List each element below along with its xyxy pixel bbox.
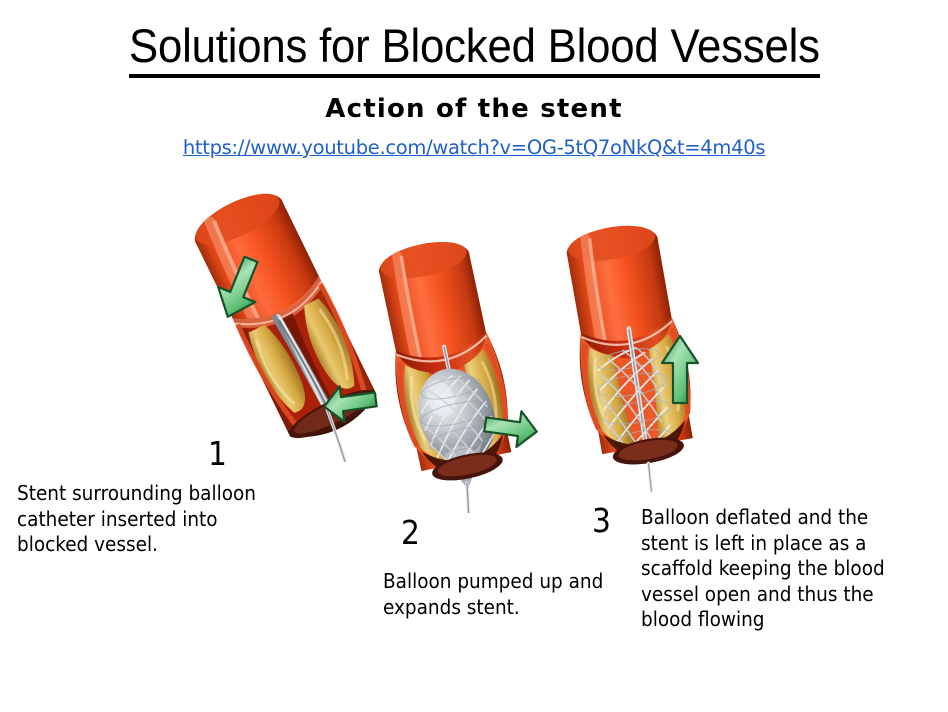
arrow-left-icon (322, 382, 378, 424)
page-title: Solutions for Blocked Blood Vessels (0, 18, 948, 78)
subtitle: Action of the stent (0, 94, 948, 124)
page-title-text: Solutions for Blocked Blood Vessels (129, 18, 820, 78)
arrow-right-icon (483, 407, 539, 449)
slide-canvas: Solutions for Blocked Blood Vessels Acti… (0, 0, 948, 712)
step-number-3: 3 (592, 504, 611, 537)
caption-step-3: Balloon deflated and the stent is left i… (641, 505, 886, 633)
youtube-link[interactable]: https://www.youtube.com/watch?v=OG-5tQ7o… (0, 136, 948, 159)
caption-step-2: Balloon pumped up and expands stent. (383, 569, 623, 620)
caption-step-1: Stent surrounding balloon catheter inser… (17, 481, 267, 558)
step-number-1: 1 (208, 437, 227, 470)
arrow-down-icon (214, 255, 264, 323)
arrow-up-icon (658, 333, 702, 405)
step-number-2: 2 (401, 516, 420, 549)
figure-step-2 (355, 228, 545, 513)
